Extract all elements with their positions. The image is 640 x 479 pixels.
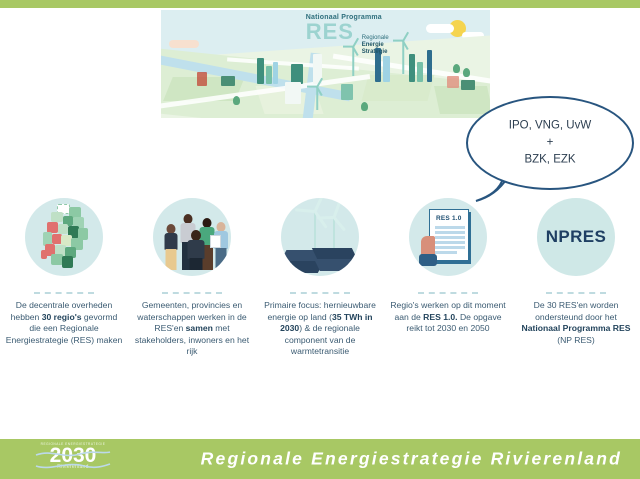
caption-divider bbox=[418, 292, 478, 294]
building-icon bbox=[257, 58, 264, 84]
banner-res-wordmark: RES bbox=[306, 19, 354, 44]
building-icon bbox=[427, 50, 432, 82]
banner-sub-line1: Regionale bbox=[362, 35, 389, 41]
logo-wave-shape bbox=[34, 449, 112, 471]
document-title-label: RES 1.0 bbox=[436, 215, 462, 222]
building-icon bbox=[291, 64, 303, 84]
netherlands-map-shape bbox=[39, 204, 91, 270]
column-decentrale-overheden: De decentrale overheden hebben 30 regio'… bbox=[0, 198, 128, 408]
person-figure bbox=[163, 224, 178, 270]
bubble-line-2: + bbox=[468, 135, 632, 152]
netherlands-map-icon bbox=[25, 198, 103, 276]
building-icon bbox=[341, 84, 353, 100]
building-icon bbox=[383, 56, 390, 82]
wind-turbine-icon bbox=[397, 40, 409, 74]
sleeve-shape bbox=[419, 254, 437, 266]
bubble-line-1: IPO, VNG, UvW bbox=[468, 118, 632, 135]
caption-divider bbox=[290, 292, 350, 294]
speech-bubble-text: IPO, VNG, UvW + BZK, EZK bbox=[468, 118, 632, 169]
tree-icon bbox=[233, 96, 240, 105]
solar-panel-icon bbox=[314, 259, 358, 271]
banner-title-block: Nationaal Programma RES Regionale Energi… bbox=[306, 14, 484, 44]
building-icon bbox=[266, 66, 272, 84]
people-group-shape bbox=[153, 208, 231, 270]
column-samenwerking: Gemeenten, provincies en waterschappen w… bbox=[128, 198, 256, 408]
tree-icon bbox=[361, 102, 368, 111]
banner-sub-line2: Energie bbox=[362, 42, 384, 48]
person-figure bbox=[186, 230, 205, 270]
speech-bubble: IPO, VNG, UvW + BZK, EZK bbox=[466, 96, 634, 190]
slide-canvas: Nationaal Programma RES Regionale Energi… bbox=[0, 0, 640, 479]
footer-title: Regionale Energiestrategie Rivierenland bbox=[201, 449, 622, 470]
wind-turbine-icon bbox=[311, 86, 323, 110]
building-icon bbox=[197, 72, 207, 86]
caption-divider bbox=[34, 292, 94, 294]
tree-icon bbox=[453, 64, 460, 73]
npres-label: NPRES bbox=[546, 227, 607, 247]
info-columns: De decentrale overheden hebben 30 regio'… bbox=[0, 198, 640, 408]
caption-primaire-focus: Primaire focus: hernieuwbare energie op … bbox=[261, 300, 379, 358]
banner-sub-line3: Strategie bbox=[362, 49, 388, 55]
caption-decentrale-overheden: De decentrale overheden hebben 30 regio'… bbox=[5, 300, 123, 346]
npres-badge-icon: NPRES bbox=[537, 198, 615, 276]
column-primaire-focus: Primaire focus: hernieuwbare energie op … bbox=[256, 198, 384, 408]
caption-npres: De 30 RES'en worden ondersteund door het… bbox=[517, 300, 635, 346]
wind-solar-icon bbox=[281, 198, 359, 276]
document-res-icon: RES 1.0 bbox=[409, 198, 487, 276]
column-npres: NPRES De 30 RES'en worden ondersteund do… bbox=[512, 198, 640, 408]
document-shape: RES 1.0 bbox=[409, 198, 487, 276]
banner-illustration: Nationaal Programma RES Regionale Energi… bbox=[161, 10, 490, 118]
people-group-icon bbox=[153, 198, 231, 276]
bubble-line-3: BZK, EZK bbox=[468, 152, 632, 169]
caption-samenwerking: Gemeenten, provincies en waterschappen w… bbox=[133, 300, 251, 358]
building-icon bbox=[285, 82, 301, 104]
banner-field bbox=[361, 75, 434, 101]
caption-res-1-0: Regio's werken op dit moment aan de RES … bbox=[389, 300, 507, 335]
caption-divider bbox=[162, 292, 222, 294]
building-icon bbox=[447, 76, 459, 88]
caption-divider bbox=[546, 292, 606, 294]
res-2030-logo: REGIONALE ENERGIESTRATEGIE 2030 Rivieren… bbox=[30, 442, 116, 476]
footer-bar: REGIONALE ENERGIESTRATEGIE 2030 Rivieren… bbox=[0, 439, 640, 479]
column-res-1-0: RES 1.0 Regio's werken op dit moment aan… bbox=[384, 198, 512, 408]
cloud-icon bbox=[169, 40, 199, 48]
building-icon bbox=[417, 62, 423, 82]
top-green-strip bbox=[0, 0, 640, 8]
wind-solar-shape bbox=[281, 198, 359, 276]
wind-turbine-icon bbox=[347, 46, 359, 76]
document-prop-icon bbox=[210, 235, 221, 248]
building-icon bbox=[409, 54, 415, 82]
building-icon bbox=[221, 76, 235, 86]
building-icon bbox=[273, 62, 278, 84]
tree-icon bbox=[463, 68, 470, 77]
building-icon bbox=[461, 80, 475, 90]
banner-subtitle: Regionale Energie Strategie bbox=[362, 35, 389, 57]
